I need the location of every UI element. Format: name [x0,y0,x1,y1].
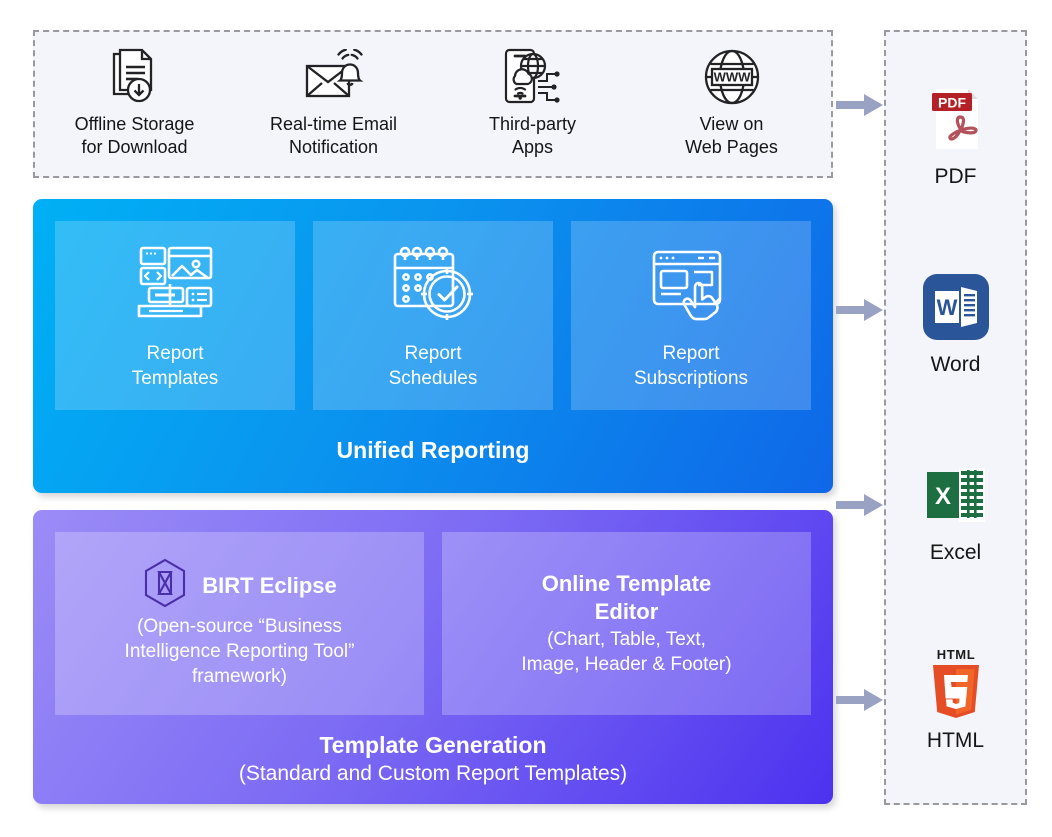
template-generation-cards: BIRT Eclipse (Open-source “Business Inte… [55,532,811,715]
svg-text:X: X [934,483,950,510]
card-birt-eclipse[interactable]: BIRT Eclipse (Open-source “Business Inte… [55,532,424,715]
delivery-channels-panel: Offline Storage for Download Real-time E… [33,30,833,178]
card-report-schedules[interactable]: Report Schedules [313,221,553,410]
arrow-to-excel [836,492,884,518]
arrow-to-pdf [836,92,884,118]
email-notification-icon [304,48,364,106]
format-item-word[interactable]: W Word [919,270,993,377]
delivery-channel-email-notification[interactable]: Real-time Email Notification [234,48,433,159]
globe-www-icon: WWW [703,48,761,106]
third-party-apps-icon [502,48,564,106]
format-label: HTML [927,729,984,753]
format-label: Word [931,353,981,377]
card-label: Report Subscriptions [634,341,748,391]
card-title: BIRT Eclipse [202,572,336,600]
template-generation-section: BIRT Eclipse (Open-source “Business Inte… [33,510,833,804]
calendar-clock-icon [389,243,477,329]
template-generation-subtitle: (Standard and Custom Report Templates) [33,762,833,786]
delivery-channel-label: Real-time Email Notification [270,113,397,159]
birt-eclipse-heading-row: BIRT Eclipse [142,558,336,613]
unified-reporting-section: Report Templates [33,199,833,493]
card-subtitle: (Chart, Table, Text, Image, Header & Foo… [521,627,731,677]
output-formats-panel: PDF PDF W Word [884,30,1027,805]
unified-reporting-cards: Report Templates [55,221,811,410]
arrow-to-html [836,687,884,713]
card-report-subscriptions[interactable]: Report Subscriptions [571,221,811,410]
left-flow-column: Offline Storage for Download Real-time E… [33,30,835,805]
excel-file-icon: X [919,458,993,532]
unified-reporting-title: Unified Reporting [33,437,833,464]
format-label: Excel [930,541,981,565]
template-generation-title: Template Generation [33,732,833,759]
card-label: Report Templates [132,341,219,391]
card-label: Report Schedules [389,341,478,391]
delivery-channel-label: Offline Storage for Download [75,113,195,159]
format-item-html[interactable]: HTML HTML [919,646,993,753]
card-title: Online Template Editor [542,570,712,626]
delivery-channel-third-party-apps[interactable]: Third-party Apps [433,48,632,159]
svg-text:PDF: PDF [938,95,966,111]
html5-file-icon: HTML [919,646,993,720]
arrow-to-word [836,297,884,323]
card-report-templates[interactable]: Report Templates [55,221,295,410]
delivery-channels-list: Offline Storage for Download Real-time E… [35,32,831,176]
svg-text:HTML: HTML [936,647,975,662]
delivery-channel-offline-storage[interactable]: Offline Storage for Download [35,48,234,159]
word-file-icon: W [919,270,993,344]
subscription-click-icon [648,243,734,329]
card-online-template-editor[interactable]: Online Template Editor (Chart, Table, Te… [442,532,811,715]
report-template-icon [129,243,221,329]
svg-text:W: W [936,295,957,320]
format-label: PDF [935,165,977,189]
birt-hexagon-icon [142,558,188,613]
format-item-excel[interactable]: X Excel [919,458,993,565]
format-item-pdf[interactable]: PDF PDF [919,82,993,189]
delivery-channel-label: Third-party Apps [489,113,576,159]
card-subtitle: (Open-source “Business Intelligence Repo… [125,614,355,689]
delivery-channel-label: View on Web Pages [685,113,778,159]
pdf-file-icon: PDF [919,82,993,156]
document-download-icon [107,48,163,106]
svg-text:WWW: WWW [713,70,751,85]
delivery-channel-view-on-web[interactable]: WWW View on Web Pages [632,48,831,159]
